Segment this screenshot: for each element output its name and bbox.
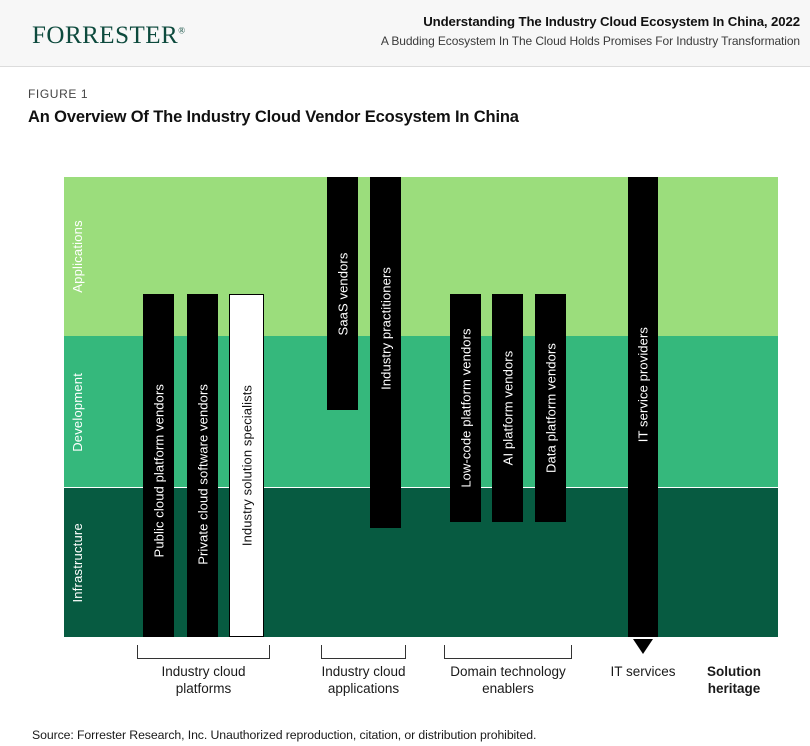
group-label-it-services: IT services — [596, 663, 690, 680]
bar-public-cloud-platform-vendors[interactable]: Public cloud platform vendors — [143, 294, 174, 637]
group-label-industry-cloud-applications: Industry cloud applications — [321, 663, 406, 697]
logo-wordmark: FORRESTER — [32, 22, 178, 49]
forrester-logo: FORRESTER® — [32, 22, 186, 50]
bar-label: Low-code platform vendors — [458, 328, 473, 487]
bar-saas-vendors[interactable]: SaaS vendors — [327, 177, 358, 410]
report-title: Understanding The Industry Cloud Ecosyst… — [300, 14, 800, 29]
bar-it-service-providers[interactable]: IT service providers — [628, 177, 658, 637]
bar-label: SaaS vendors — [335, 252, 350, 335]
band-label: Infrastructure — [70, 488, 85, 638]
bar-label: Industry practitioners — [378, 267, 393, 390]
chart-plot-area: ApplicationsDevelopmentInfrastructurePub… — [64, 177, 778, 637]
source-note: Source: Forrester Research, Inc. Unautho… — [32, 728, 536, 742]
bar-label: IT service providers — [636, 327, 651, 442]
page-header: FORRESTER® Understanding The Industry Cl… — [0, 0, 810, 67]
figure-title: An Overview Of The Industry Cloud Vendor… — [28, 108, 519, 127]
down-arrow-icon — [633, 639, 653, 654]
group-label-solution-heritage: Solution heritage — [690, 663, 778, 697]
bar-industry-solution-specialists[interactable]: Industry solution specialists — [229, 294, 264, 637]
bar-label: Industry solution specialists — [239, 385, 254, 546]
bar-label: Private cloud software vendors — [195, 384, 210, 565]
group-bracket-industry-cloud-applications — [321, 645, 406, 659]
bar-data-platform-vendors[interactable]: Data platform vendors — [535, 294, 566, 522]
figure-label: FIGURE 1 — [28, 87, 88, 101]
group-label-domain-technology-enablers: Domain technology enablers — [444, 663, 572, 697]
group-bracket-industry-cloud-platforms — [137, 645, 270, 659]
report-subtitle: A Budding Ecosystem In The Cloud Holds P… — [250, 34, 800, 48]
bar-low-code-platform-vendors[interactable]: Low-code platform vendors — [450, 294, 481, 522]
bar-label: Data platform vendors — [543, 343, 558, 473]
group-label-industry-cloud-platforms: Industry cloud platforms — [137, 663, 270, 697]
bar-label: Public cloud platform vendors — [151, 384, 166, 557]
bar-label: AI platform vendors — [500, 351, 515, 466]
bar-private-cloud-software-vendors[interactable]: Private cloud software vendors — [187, 294, 218, 637]
bar-industry-practitioners[interactable]: Industry practitioners — [370, 177, 401, 528]
bar-ai-platform-vendors[interactable]: AI platform vendors — [492, 294, 523, 522]
registered-trademark-icon: ® — [178, 26, 185, 36]
band-label: Development — [70, 336, 85, 488]
group-bracket-domain-technology-enablers — [444, 645, 572, 659]
band-label: Applications — [70, 177, 85, 336]
